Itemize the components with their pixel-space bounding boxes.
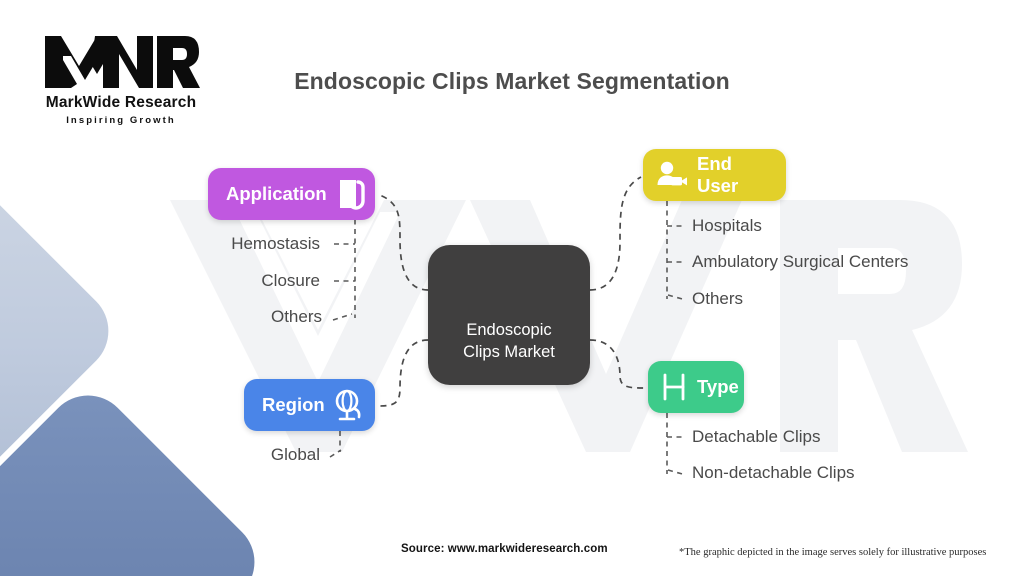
connector-center-application [377, 194, 428, 290]
category-label-type: Type [697, 376, 739, 398]
connector-application-others [333, 314, 352, 320]
source-text: Source: www.markwideresearch.com [401, 543, 608, 555]
category-node-region[interactable]: Region [244, 379, 375, 431]
category-node-end-user[interactable]: End User [643, 149, 786, 201]
connector-center-enduser [590, 177, 641, 290]
disclaimer-text: *The graphic depicted in the image serve… [679, 547, 986, 558]
connector-region-global [330, 450, 341, 457]
clip-icon [660, 372, 690, 402]
leaf-end-user-0: Hospitals [692, 216, 762, 236]
leaf-type-0: Detachable Clips [692, 427, 821, 447]
connector-enduser-others [668, 295, 686, 300]
category-node-application[interactable]: Application [208, 168, 375, 220]
paperclip-icon [337, 178, 367, 210]
leaf-region-0: Global [100, 445, 320, 465]
center-node-label: Endoscopic Clips Market [463, 319, 555, 363]
infographic-canvas: MarkWide Research Inspiring Growth Endos… [0, 0, 1024, 576]
leaf-type-1: Non-detachable Clips [692, 463, 855, 483]
users-icon [656, 160, 688, 190]
category-node-type[interactable]: Type [648, 361, 744, 413]
globe-icon [333, 388, 363, 422]
connector-type-nondetachable [668, 470, 686, 475]
category-label-region: Region [262, 394, 325, 416]
leaf-application-1: Closure [100, 271, 320, 291]
leaf-application-2: Others [100, 307, 322, 327]
leaf-end-user-2: Others [692, 289, 743, 309]
connector-center-type [590, 340, 646, 388]
category-label-end-user: End User [697, 153, 770, 197]
category-label-application: Application [226, 183, 327, 205]
center-node[interactable]: Endoscopic Clips Market [428, 245, 590, 385]
leaf-application-0: Hemostasis [100, 234, 320, 254]
connector-center-region [377, 340, 428, 406]
leaf-end-user-1: Ambulatory Surgical Centers [692, 252, 908, 272]
